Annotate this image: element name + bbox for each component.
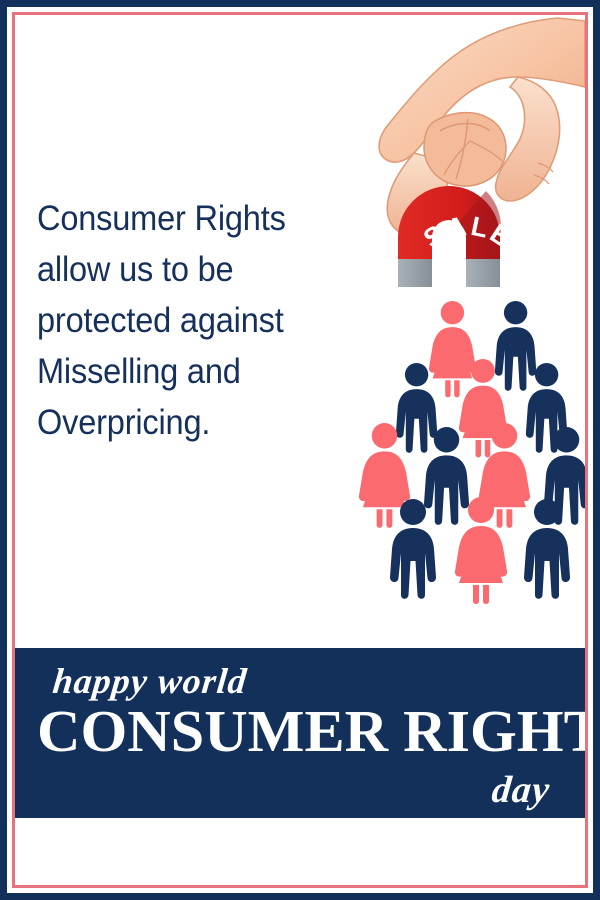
person-man-r3c2 — [424, 427, 469, 525]
banner-consumer-rights-text: CONSUMER RIGHTS — [37, 700, 585, 762]
poster-root: Consumer Rights allow us to be protected… — [0, 0, 600, 900]
hand-holding-magnet-illustration: SALE — [370, 15, 585, 305]
sale-magnet-icon: SALE — [398, 186, 518, 287]
person-man-r4c1 — [390, 499, 436, 599]
people-crowd-illustration — [355, 297, 585, 615]
person-man-r1c2 — [495, 301, 536, 391]
bottom-banner: happy world CONSUMER RIGHTS day — [15, 648, 585, 818]
page-title: Consumer Rights allow us to be protected… — [37, 193, 367, 448]
person-woman-r1c1 — [429, 301, 476, 397]
person-man-r4c3 — [524, 499, 570, 599]
banner-day-text: day — [15, 768, 552, 812]
banner-happy-world-text: happy world — [51, 660, 249, 702]
poster-canvas: Consumer Rights allow us to be protected… — [15, 15, 585, 885]
person-man-r2c1 — [396, 363, 437, 453]
